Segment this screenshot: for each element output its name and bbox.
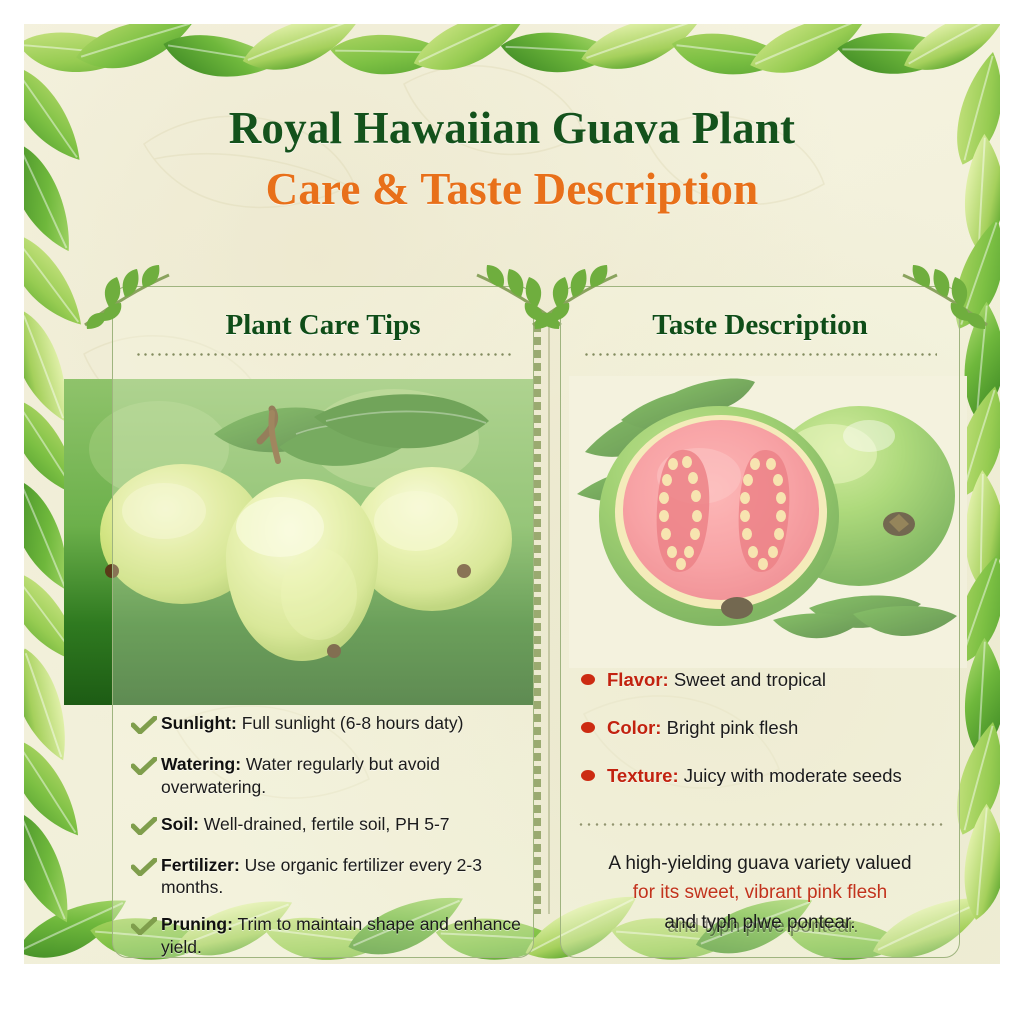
list-item-text: Watering: Water regularly but avoid over…: [161, 753, 523, 799]
list-item-label: Soil:: [161, 814, 199, 834]
list-item-text: Soil: Well-drained, fertile soil, PH 5-7: [161, 813, 450, 836]
list-item: Color: Bright pink flesh: [581, 717, 961, 739]
plant-care-heading: Plant Care Tips: [113, 309, 533, 342]
list-item-label: Pruning:: [161, 914, 233, 934]
taste-summary: A high-yielding guava variety valued for…: [579, 849, 941, 937]
taste-description-heading: Taste Description: [561, 309, 959, 342]
check-icon: [131, 858, 161, 881]
check-icon: [131, 757, 161, 780]
list-item-value: Juicy with moderate seeds: [684, 765, 902, 786]
list-item: Sunlight: Full sunlight (6-8 hours daty): [131, 712, 523, 739]
list-item: Watering: Water regularly but avoid over…: [131, 753, 523, 799]
heading-divider: [135, 353, 511, 356]
bullet-dot-icon: [581, 770, 595, 781]
list-item-label: Texture:: [607, 765, 679, 786]
list-item-value: Sweet and tropical: [674, 669, 826, 690]
list-item-text: Color: Bright pink flesh: [607, 717, 798, 739]
check-icon: [131, 917, 161, 940]
list-item-value: Full sunlight (6-8 hours daty): [242, 713, 464, 733]
page-title-line1: Royal Hawaiian Guava Plant: [24, 106, 1000, 151]
page-title-line2: Care & Taste Description: [24, 167, 1000, 212]
poster-root: Royal Hawaiian Guava Plant Care & Taste …: [0, 0, 1024, 1024]
taste-list: Flavor: Sweet and tropical Color: Bright…: [581, 669, 961, 814]
list-item-value: Bright pink flesh: [667, 717, 799, 738]
poster-panel: Royal Hawaiian Guava Plant Care & Taste …: [24, 24, 1000, 964]
list-item-value: Well-drained, fertile soil, PH 5-7: [204, 814, 450, 834]
list-item: Soil: Well-drained, fertile soil, PH 5-7: [131, 813, 523, 840]
column-divider-dashed: [534, 324, 541, 914]
summary-line-3-ghost: and typh plwe pontear.: [667, 912, 858, 941]
list-item-text: Sunlight: Full sunlight (6-8 hours daty): [161, 712, 463, 735]
list-item-label: Sunlight:: [161, 713, 237, 733]
list-item: Texture: Juicy with moderate seeds: [581, 765, 961, 787]
taste-description-card: Taste Description Flavor: Sweet and trop…: [560, 286, 960, 958]
summary-divider: [577, 823, 943, 826]
check-icon: [131, 716, 161, 739]
list-item-text: Flavor: Sweet and tropical: [607, 669, 826, 691]
bullet-dot-icon: [581, 674, 595, 685]
plant-care-card: Plant Care Tips Sunlight: Full sunlight …: [112, 286, 534, 958]
list-item-text: Texture: Juicy with moderate seeds: [607, 765, 902, 787]
heading-divider: [583, 353, 937, 356]
list-item-text: Fertilizer: Use organic fertilizer every…: [161, 854, 523, 900]
list-item-text: Pruning: Trim to maintain shape and enha…: [161, 913, 523, 959]
list-item-label: Flavor:: [607, 669, 669, 690]
check-icon: [131, 817, 161, 840]
list-item: Pruning: Trim to maintain shape and enha…: [131, 913, 523, 959]
bullet-dot-icon: [581, 722, 595, 733]
summary-line-3: and typh plwe pontear.and typh plwe pont…: [664, 912, 855, 933]
list-item-label: Watering:: [161, 754, 241, 774]
list-item: Flavor: Sweet and tropical: [581, 669, 961, 691]
column-divider-line: [548, 324, 550, 914]
title-block: Royal Hawaiian Guava Plant Care & Taste …: [24, 106, 1000, 212]
list-item-label: Color:: [607, 717, 661, 738]
list-item-label: Fertilizer:: [161, 855, 240, 875]
list-item: Fertilizer: Use organic fertilizer every…: [131, 854, 523, 900]
summary-line-2: for its sweet, vibrant pink flesh: [633, 882, 888, 903]
plant-care-list: Sunlight: Full sunlight (6-8 hours daty)…: [131, 712, 523, 964]
summary-line-1: A high-yielding guava variety valued: [608, 853, 911, 874]
